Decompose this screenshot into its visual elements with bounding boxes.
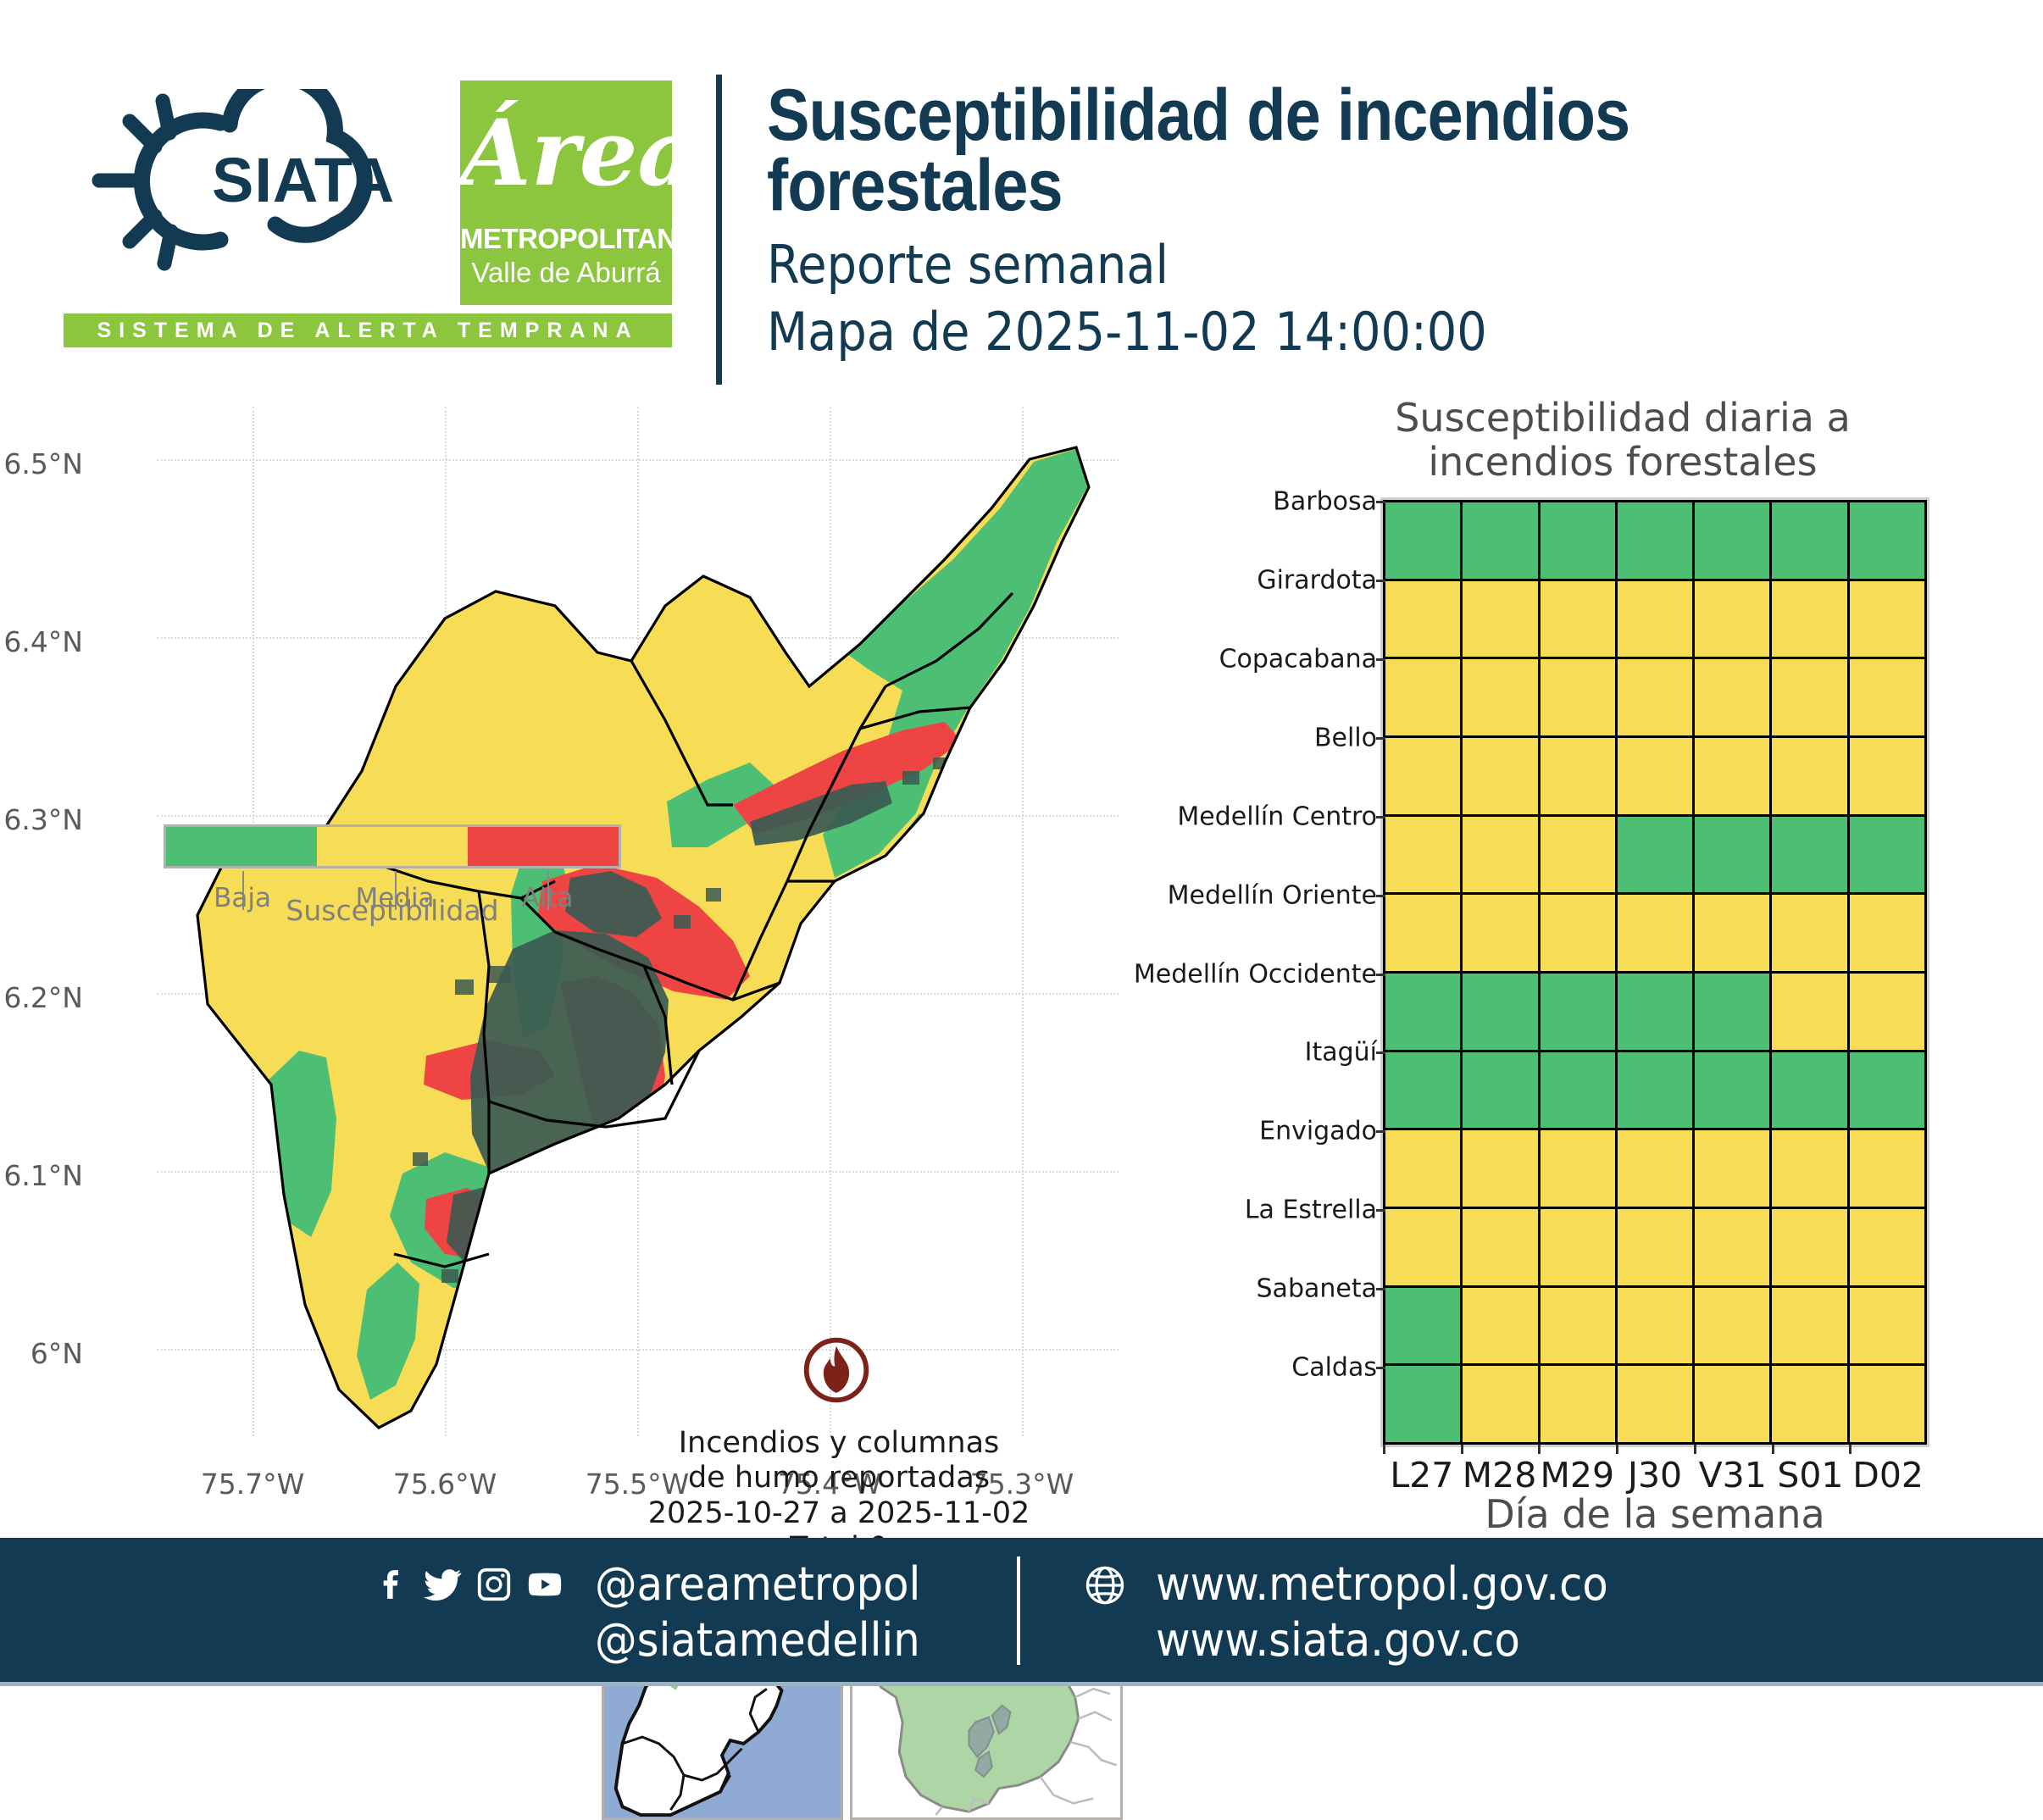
heatmap-cell[interactable]	[1462, 580, 1539, 658]
heatmap-title: Susceptibilidad diaria aincendios forest…	[1203, 397, 2042, 484]
heatmap-xtick-label-s01: S01	[1777, 1455, 1843, 1495]
heatmap-ytick-mark	[1376, 580, 1385, 582]
heatmap-row	[1385, 502, 1926, 580]
heatmap-cell[interactable]	[1462, 894, 1539, 973]
heatmap-ytick-mark	[1376, 895, 1385, 897]
heatmap-row	[1385, 1129, 1926, 1208]
heatmap-cell[interactable]	[1616, 658, 1693, 737]
heatmap-cell[interactable]	[1462, 1051, 1539, 1129]
heatmap-cell[interactable]	[1616, 736, 1693, 815]
heatmap-ytick-label-sabaneta: Sabaneta	[1257, 1274, 1377, 1304]
heatmap-cell[interactable]	[1848, 1365, 1925, 1444]
heatmap-ytick-mark	[1376, 1051, 1385, 1054]
heatmap-ytick-label-itagüí: Itagüí	[1305, 1038, 1377, 1068]
area-metropolitana-logo: Área METROPOLITANA Valle de Aburrá	[460, 80, 672, 305]
heatmap-cell[interactable]	[1848, 1129, 1925, 1208]
heatmap-cell[interactable]	[1694, 1286, 1771, 1365]
heatmap-cell[interactable]	[1616, 580, 1693, 658]
heatmap-cell[interactable]	[1462, 736, 1539, 815]
heatmap-cell[interactable]	[1694, 815, 1771, 894]
heatmap-ytick-label-girardota: Girardota	[1257, 565, 1377, 595]
heatmap-ytick-mark	[1376, 658, 1385, 661]
heatmap-row	[1385, 658, 1926, 737]
heatmap-cell[interactable]	[1385, 1365, 1462, 1444]
heatmap-cell[interactable]	[1694, 972, 1771, 1051]
heatmap-cell[interactable]	[1694, 894, 1771, 973]
map-ytick-label: 6.2°N	[3, 981, 83, 1014]
heatmap-title-line2: incendios forestales	[1203, 441, 2042, 485]
heatmap-cell[interactable]	[1616, 1365, 1693, 1444]
heatmap-cell[interactable]	[1771, 1286, 1848, 1365]
map-ytick-label: 6.3°N	[3, 803, 83, 836]
heatmap-row	[1385, 736, 1926, 815]
heatmap-cell[interactable]	[1848, 502, 1925, 580]
social-handles: @areametropol @siatamedellin	[595, 1556, 920, 1668]
heatmap-xtick-label-v31: V31	[1699, 1455, 1767, 1495]
heatmap-cell[interactable]	[1771, 502, 1848, 580]
heatmap-cell[interactable]	[1385, 972, 1462, 1051]
heatmap-cell[interactable]	[1694, 1129, 1771, 1208]
map-ytick-label: 6.5°N	[3, 447, 83, 480]
header-divider	[716, 75, 722, 385]
heatmap-xtick-mark	[1849, 1445, 1851, 1454]
heatmap-ytick-label-caldas: Caldas	[1291, 1353, 1377, 1383]
heatmap-xtick-mark	[1538, 1445, 1541, 1454]
legend-swatch-media	[317, 827, 468, 866]
heatmap-cell[interactable]	[1539, 972, 1616, 1051]
fire-annotation-line1: Incendios y columnas	[627, 1426, 1051, 1461]
heatmap-xtick-label-d02: D02	[1852, 1455, 1924, 1495]
legend-swatch-alta	[468, 827, 619, 866]
map-date-label: Mapa de 2025-11-02 14:00:00	[767, 301, 1873, 363]
heatmap-cell[interactable]	[1848, 1286, 1925, 1365]
heatmap-cell[interactable]	[1385, 580, 1462, 658]
heatmap-cell[interactable]	[1694, 736, 1771, 815]
heatmap-ytick-label-medellín-centro: Medellín Centro	[1177, 802, 1377, 831]
handle-areametropol[interactable]: @areametropol	[595, 1556, 920, 1612]
heatmap-cell[interactable]	[1771, 1207, 1848, 1286]
heatmap-cell[interactable]	[1385, 894, 1462, 973]
fire-annotation-line3: 2025-10-27 a 2025-11-02	[627, 1496, 1051, 1531]
area-logo-line2: Valle de Aburrá	[460, 257, 672, 289]
heatmap-xtick-label-m29: M29	[1541, 1455, 1615, 1495]
heatmap-cell[interactable]	[1539, 658, 1616, 737]
twitter-icon[interactable]	[424, 1565, 463, 1604]
heatmap-ytick-label-medellín-occidente: Medellín Occidente	[1134, 959, 1377, 989]
heatmap-cell[interactable]	[1385, 502, 1462, 580]
youtube-icon[interactable]	[525, 1565, 564, 1604]
heatmap-row	[1385, 972, 1926, 1051]
heatmap-cell[interactable]	[1694, 1365, 1771, 1444]
heatmap-cell[interactable]	[1539, 894, 1616, 973]
heatmap-cell[interactable]	[1771, 736, 1848, 815]
area-script-wordmark: Área	[460, 86, 672, 221]
heatmap-ytick-label-barbosa: Barbosa	[1273, 487, 1377, 517]
fire-icon	[801, 1334, 872, 1406]
heatmap-cell[interactable]	[1462, 1207, 1539, 1286]
footer-bottom-rule	[0, 1682, 2043, 1686]
heatmap-cell[interactable]	[1385, 1129, 1462, 1208]
heatmap-xtick-mark	[1461, 1445, 1463, 1454]
heatmap-cell[interactable]	[1539, 502, 1616, 580]
heatmap-cell[interactable]	[1462, 658, 1539, 737]
heatmap-title-line1: Susceptibilidad diaria a	[1203, 397, 2042, 441]
heatmap-cell[interactable]	[1462, 815, 1539, 894]
page-title-line2: forestales	[767, 151, 1848, 221]
heatmap-ytick-mark	[1376, 974, 1385, 976]
heatmap-cell[interactable]	[1616, 815, 1693, 894]
url-metropol[interactable]: www.metropol.gov.co	[1156, 1556, 1608, 1612]
heatmap-cell[interactable]	[1385, 1207, 1462, 1286]
social-block: @areametropol @siatamedellin	[373, 1556, 949, 1668]
heatmap-cell[interactable]	[1848, 894, 1925, 973]
heatmap-xtick-mark	[1383, 1445, 1385, 1454]
heatmap-cell[interactable]	[1771, 815, 1848, 894]
heatmap-xtick-label-l27: L27	[1390, 1455, 1453, 1495]
heatmap-ytick-mark	[1376, 737, 1385, 740]
heatmap-cell[interactable]	[1694, 1207, 1771, 1286]
heatmap-xtick-mark	[1616, 1445, 1618, 1454]
heatmap-cell[interactable]	[1771, 1365, 1848, 1444]
instagram-icon[interactable]	[475, 1565, 514, 1604]
heatmap-cell[interactable]	[1616, 1129, 1693, 1208]
social-icons	[373, 1565, 564, 1604]
heatmap-cell[interactable]	[1848, 972, 1925, 1051]
heatmap-cell[interactable]	[1616, 1051, 1693, 1129]
heatmap-cell[interactable]	[1848, 1051, 1925, 1129]
heatmap-xtick-mark	[1772, 1445, 1774, 1454]
heatmap-cell[interactable]	[1616, 972, 1693, 1051]
heatmap-ytick-label-envigado: Envigado	[1259, 1117, 1377, 1146]
heatmap-cell[interactable]	[1539, 815, 1616, 894]
footer-divider	[1017, 1556, 1020, 1665]
heatmap-cell[interactable]	[1539, 1365, 1616, 1444]
siata-wordmark: SIATA	[212, 144, 395, 216]
heatmap-ytick-label-copacabana: Copacabana	[1219, 644, 1377, 674]
website-block: www.metropol.gov.co www.siata.gov.co	[1083, 1556, 1647, 1668]
heatmap-cell[interactable]	[1848, 580, 1925, 658]
heatmap-cell[interactable]	[1694, 502, 1771, 580]
map-panel: 6.5°N 6.4°N 6.3°N 6.2°N 6.1°N 6°N 75.7°W…	[0, 386, 1186, 1538]
heatmap-ytick-mark	[1376, 1209, 1385, 1212]
heatmap-cell[interactable]	[1616, 1286, 1693, 1365]
area-logo-line1: METROPOLITANA	[460, 223, 672, 255]
heatmap-cell[interactable]	[1539, 736, 1616, 815]
heatmap-cell[interactable]	[1462, 1365, 1539, 1444]
heatmap-cell[interactable]	[1462, 502, 1539, 580]
facebook-icon[interactable]	[373, 1565, 412, 1604]
heatmap-cell[interactable]	[1539, 1129, 1616, 1208]
heatmap-ytick-label-la-estrella: La Estrella	[1245, 1196, 1377, 1225]
map-ytick-label: 6°N	[31, 1337, 83, 1370]
heatmap-ytick-mark	[1376, 816, 1385, 818]
heatmap-cell[interactable]	[1848, 1207, 1925, 1286]
heatmap-cell[interactable]	[1385, 815, 1462, 894]
heatmap-row	[1385, 815, 1926, 894]
heatmap-cell[interactable]	[1771, 580, 1848, 658]
url-siata[interactable]: www.siata.gov.co	[1156, 1612, 1608, 1668]
heatmap-cell[interactable]	[1385, 736, 1462, 815]
logo-block: SIATA Área METROPOLITANA Valle de Aburrá…	[80, 80, 640, 360]
heatmap-row	[1385, 1286, 1926, 1365]
heatmap-cell[interactable]	[1385, 1051, 1462, 1129]
handle-siatamedellin[interactable]: @siatamedellin	[595, 1612, 920, 1668]
heatmap-cell[interactable]	[1616, 894, 1693, 973]
heatmap-cell[interactable]	[1694, 580, 1771, 658]
heatmap-cell[interactable]	[1771, 1051, 1848, 1129]
heatmap-cell[interactable]	[1771, 658, 1848, 737]
heatmap-cell[interactable]	[1462, 1129, 1539, 1208]
legend-title: Susceptibilidad	[164, 894, 621, 927]
heatmap-ytick-mark	[1376, 501, 1385, 503]
map-ytick-label: 6.4°N	[3, 625, 83, 658]
heatmap-row	[1385, 1207, 1926, 1286]
heatmap-cell[interactable]	[1385, 1286, 1462, 1365]
susceptibility-colorbar: Baja Media Alta	[164, 824, 621, 868]
heatmap-cell[interactable]	[1539, 580, 1616, 658]
heatmap-cell[interactable]	[1539, 1051, 1616, 1129]
heatmap-cell[interactable]	[1539, 1286, 1616, 1365]
page-subtitle: Reporte semanal	[767, 234, 1873, 296]
heatmap-ytick-label-medellín-oriente: Medellín Oriente	[1168, 880, 1377, 910]
heatmap-ytick-mark	[1376, 1130, 1385, 1133]
heatmap-cell[interactable]	[1848, 658, 1925, 737]
heatmap-ytick-mark	[1376, 1288, 1385, 1290]
heatmap-cell[interactable]	[1385, 658, 1462, 737]
page-header: SIATA Área METROPOLITANA Valle de Aburrá…	[0, 0, 2043, 390]
heatmap-row	[1385, 894, 1926, 973]
map-ytick-label: 6.1°N	[3, 1159, 83, 1192]
title-block: Susceptibilidad de incendios forestales …	[767, 80, 1996, 363]
heatmap-cell[interactable]	[1462, 972, 1539, 1051]
heatmap-cell[interactable]	[1462, 1286, 1539, 1365]
heatmap-cell[interactable]	[1848, 815, 1925, 894]
heatmap-cell[interactable]	[1771, 894, 1848, 973]
heatmap-cell[interactable]	[1694, 1051, 1771, 1129]
heatmap-xtick-label-j30: J30	[1628, 1455, 1682, 1495]
heatmap-row	[1385, 1365, 1926, 1444]
heatmap-ytick-label-bello: Bello	[1314, 723, 1377, 752]
map-xtick-label: 75.6°W	[393, 1468, 497, 1501]
siata-tagline-bar: SISTEMA DE ALERTA TEMPRANA	[64, 314, 672, 347]
heatmap-cell[interactable]	[1771, 972, 1848, 1051]
legend-swatch-baja	[166, 827, 317, 866]
page-footer: @areametropol @siatamedellin www.metropo…	[0, 1538, 2043, 1686]
heatmap-xtick-mark	[1694, 1445, 1696, 1454]
map-xtick-label: 75.7°W	[201, 1468, 305, 1501]
globe-icon	[1083, 1563, 1127, 1607]
heatmap-row	[1385, 1051, 1926, 1129]
heatmap-cell[interactable]	[1771, 1129, 1848, 1208]
heatmap-cell[interactable]	[1694, 658, 1771, 737]
heatmap-table	[1383, 500, 1927, 1445]
heatmap-xtick-label-m28: M28	[1463, 1455, 1537, 1495]
heatmap-grid	[1383, 500, 1927, 1445]
page-title: Susceptibilidad de incendios forestales	[767, 80, 1848, 220]
heatmap-xaxis-title: Día de la semana	[1383, 1491, 1927, 1537]
heatmap-cell[interactable]	[1616, 1207, 1693, 1286]
heatmap-row	[1385, 580, 1926, 658]
page-title-line1: Susceptibilidad de incendios	[767, 80, 1848, 151]
heatmap-panel: Susceptibilidad diaria aincendios forest…	[1186, 386, 2043, 1538]
heatmap-cell[interactable]	[1616, 502, 1693, 580]
heatmap-cell[interactable]	[1539, 1207, 1616, 1286]
heatmap-ytick-mark	[1376, 1367, 1385, 1369]
website-urls: www.metropol.gov.co www.siata.gov.co	[1156, 1556, 1608, 1668]
heatmap-cell[interactable]	[1848, 736, 1925, 815]
fire-annotation-line2: de humo reportadas	[627, 1461, 1051, 1495]
